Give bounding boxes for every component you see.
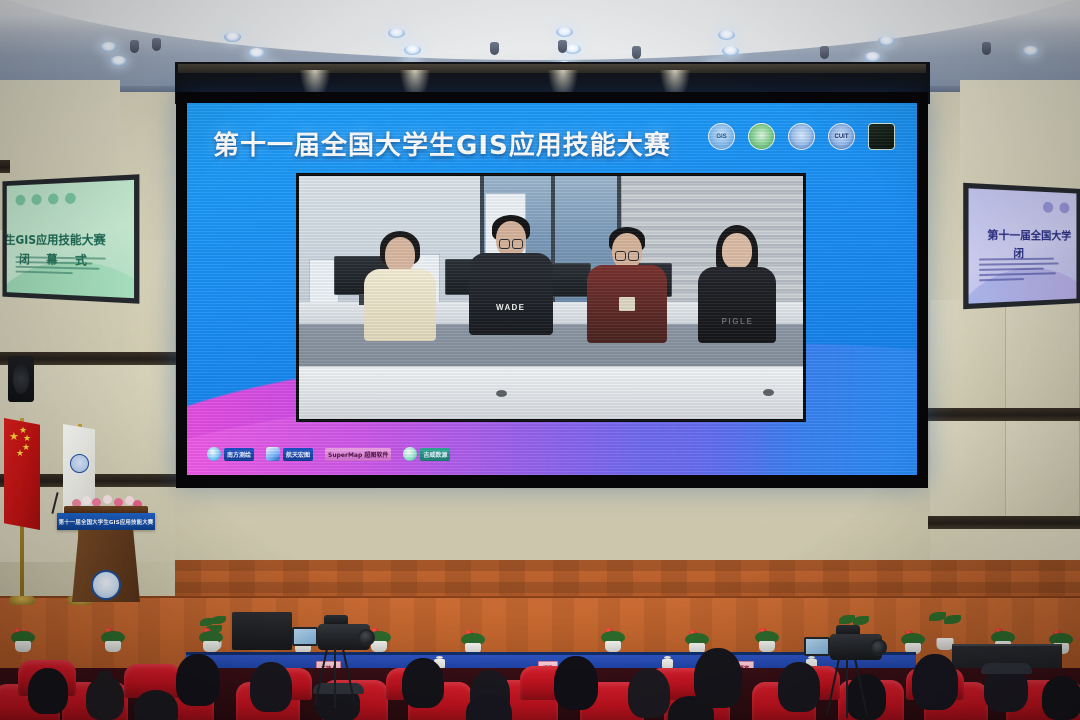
ceiling-spotlight	[130, 40, 139, 53]
led-title: 第十一届全国大学生GIS应用技能大赛	[213, 125, 671, 162]
university-seal-logo	[788, 123, 815, 150]
slide-text-lines	[16, 256, 114, 278]
audience-head	[554, 656, 598, 710]
wall-panel	[930, 420, 1006, 516]
sponsor-supermap: SuperMap 超图软件	[325, 448, 391, 461]
sponsor-label-tag: 航天宏图	[283, 448, 313, 461]
side-screen-canvas: 学生GIS应用技能大赛 闭 幕 式	[7, 180, 134, 298]
side-projection-screen-right[interactable]: 第十一届全国大学 闭	[963, 183, 1080, 309]
wall-trim-band	[0, 160, 10, 173]
participant-glasses	[615, 251, 639, 259]
audience-head	[912, 654, 958, 710]
mouse-icon	[763, 389, 774, 396]
leaf	[944, 615, 961, 624]
audience-head	[134, 690, 178, 720]
wall-panel	[1006, 420, 1080, 516]
participant-shirt-text: WADE	[496, 303, 525, 312]
audience-head	[402, 658, 444, 708]
wall-panel	[930, 300, 1006, 408]
sponsor-mark-icon	[403, 447, 417, 461]
sponsor-logo-row: 南方测绘 航天宏图 SuperMap 超图软件	[207, 447, 450, 461]
ceiling-curve	[0, 0, 1080, 60]
video-participant	[576, 225, 677, 366]
audience-head	[250, 662, 292, 712]
camera-lens-icon	[870, 639, 887, 656]
slide-logo-dots	[16, 193, 76, 206]
ceiling-spotlight	[490, 42, 499, 55]
sponsor-label-tag: SuperMap 超图软件	[325, 448, 391, 461]
star-icon: ★	[16, 448, 24, 459]
participant-body	[364, 269, 436, 341]
sponsor-mark-icon	[266, 447, 280, 461]
audience-head	[984, 664, 1028, 712]
sponsor-label: 航天宏图	[286, 450, 310, 459]
stage-flowerpot	[600, 628, 626, 652]
participant-body	[698, 267, 776, 343]
downlight	[110, 56, 127, 66]
downlight	[1022, 46, 1039, 56]
led-wall-screen[interactable]: 第十一届全国大学生GIS应用技能大赛 GIS CUIT	[176, 92, 928, 488]
plant-pot	[605, 641, 621, 652]
green-globe-logo	[748, 123, 775, 150]
audience-head	[86, 676, 124, 720]
participant-glasses	[499, 239, 523, 247]
camera-lens-icon	[358, 629, 375, 646]
video-participant: PIGLE	[687, 225, 788, 366]
audience-head	[176, 654, 220, 706]
video-call-inset[interactable]: WADE PIGLE	[296, 173, 806, 422]
stage-flowerpot	[198, 628, 224, 652]
slide-text-lines	[979, 258, 1063, 285]
video-participant	[349, 229, 450, 365]
downlight	[556, 27, 573, 37]
downlight	[100, 42, 117, 52]
wall-panel	[1006, 300, 1080, 408]
organizer-logo-row: GIS CUIT	[708, 123, 895, 150]
flag-base	[9, 596, 35, 605]
tripod-leg	[846, 658, 848, 718]
sponsor-label: 南方测绘	[227, 450, 251, 459]
tripod-leg	[334, 648, 336, 708]
sponsor-nanfang: 南方测绘	[207, 447, 254, 461]
university-emblem-icon	[70, 454, 89, 473]
downlight	[864, 52, 881, 62]
mouse-icon	[496, 390, 507, 397]
side-screen-title: 第十一届全国大学	[987, 226, 1071, 243]
plant-pot	[15, 641, 31, 652]
plant-pot	[203, 641, 219, 652]
podium-body	[72, 530, 140, 602]
participant-body	[469, 253, 553, 335]
plant-pot	[371, 641, 387, 652]
downlight	[224, 32, 241, 42]
side-screen-title: 学生GIS应用技能大赛	[2, 231, 105, 249]
ceiling-spotlight	[152, 38, 161, 51]
sponsor-label: 吉威数源	[423, 450, 447, 459]
ceiling-spotlight	[982, 42, 991, 55]
sponsor-hangtian: 航天宏图	[266, 447, 313, 461]
camera-lcd-screen[interactable]	[292, 627, 318, 646]
flower	[82, 496, 91, 505]
sponsor-label: SuperMap 超图软件	[328, 450, 388, 459]
flower	[103, 495, 112, 504]
stage-flowerpot	[900, 630, 926, 654]
leaf	[211, 616, 226, 624]
loudspeaker	[8, 356, 34, 402]
side-screen-canvas: 第十一届全国大学 闭	[969, 188, 1077, 303]
ceiling-spotlight	[820, 46, 829, 59]
institute-square-logo	[868, 123, 895, 150]
sponsor-label-tag: 吉威数源	[420, 448, 450, 461]
audience-head	[1042, 676, 1080, 720]
audience-head	[778, 662, 820, 712]
auditorium-scene: 第十一届全国大学生GIS应用技能大赛 GIS CUIT	[0, 0, 1080, 720]
flag-china: ★ ★ ★ ★ ★	[4, 418, 40, 530]
participant-head	[385, 237, 415, 273]
camera-lcd-screen[interactable]	[804, 637, 830, 656]
wall-trim-band	[928, 516, 1080, 529]
video-participant: WADE	[460, 215, 561, 366]
cuit-logo: CUIT	[828, 123, 855, 150]
participant-head	[722, 233, 752, 269]
lab-front-desk	[299, 366, 803, 419]
slide-logo-dots	[1043, 202, 1069, 214]
university-seal-icon	[91, 570, 121, 600]
downlight	[722, 46, 739, 56]
podium-banner-text: 第十一届全国大学生GIS应用技能大赛	[59, 518, 154, 526]
participant-badge	[619, 297, 635, 311]
stage-flowerpot	[754, 628, 780, 652]
stage-flowerpot	[100, 628, 126, 652]
stage-flowerpot	[460, 630, 486, 654]
downlight	[248, 48, 265, 58]
gis-association-logo: GIS	[708, 123, 735, 150]
audience-head	[28, 668, 68, 714]
downlight	[878, 36, 895, 46]
downlight	[718, 30, 735, 40]
sponsor-mark-icon	[207, 447, 221, 461]
side-projection-screen-left[interactable]: 学生GIS应用技能大赛 闭 幕 式	[2, 174, 139, 303]
participant-shirt-text: PIGLE	[721, 317, 753, 326]
plant-pot	[937, 638, 954, 650]
podium-banner: 第十一届全国大学生GIS应用技能大赛	[57, 513, 155, 530]
downlight	[404, 45, 421, 55]
stage-flowerpot	[10, 628, 36, 652]
stage-equipment-box	[232, 612, 292, 650]
downlight	[388, 28, 405, 38]
plant-pot	[759, 641, 775, 652]
ceiling-spotlight	[558, 40, 567, 53]
wall-trim-band	[928, 408, 1080, 421]
sponsor-label-tag: 南方测绘	[224, 448, 254, 461]
podium: 第十一届全国大学生GIS应用技能大赛	[64, 506, 148, 602]
led-display: 第十一届全国大学生GIS应用技能大赛 GIS CUIT	[187, 103, 917, 475]
sponsor-wuda: 吉威数源	[403, 447, 450, 461]
star-icon: ★	[9, 430, 19, 443]
audience-head	[628, 668, 670, 718]
ceiling-spotlight	[632, 46, 641, 59]
leaf	[853, 616, 869, 625]
plant-pot	[105, 641, 121, 652]
